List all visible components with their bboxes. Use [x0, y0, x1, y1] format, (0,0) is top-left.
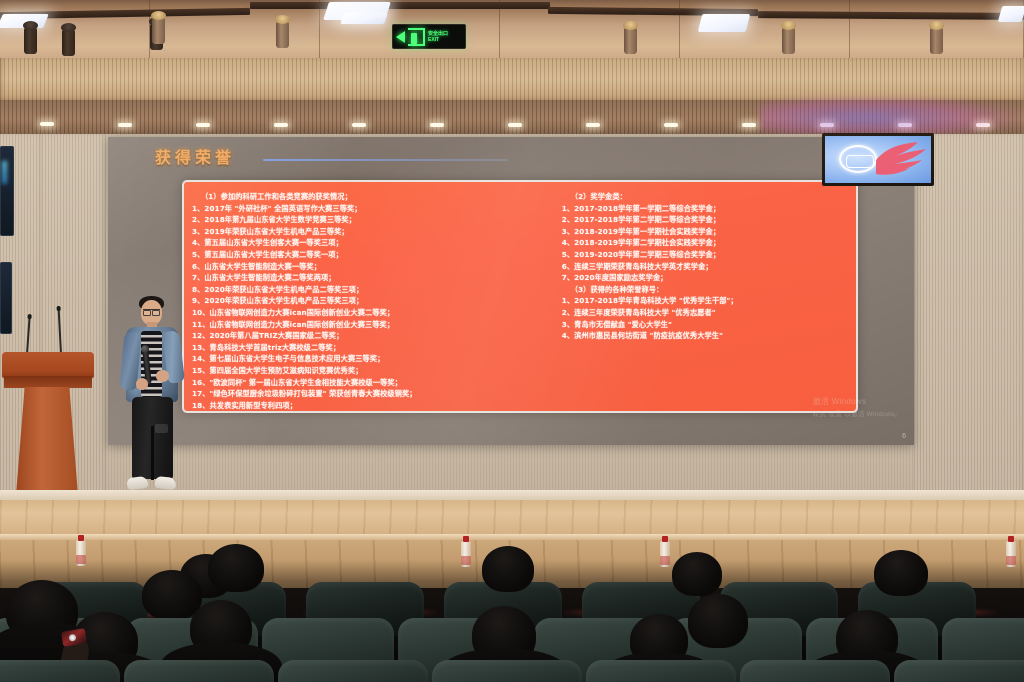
slide-honors-item: 1、2017-2018学年青岛科技大学 "优秀学生干部"； [562, 295, 852, 307]
school-emblem-sign [822, 133, 934, 186]
presenter [114, 294, 192, 510]
audience-head [142, 570, 202, 620]
slide-honors-heading: （3）获得的各种荣誉称号： [562, 284, 852, 296]
windows-activation-watermark: 激活 Windows 转到"设置"以激活 Windows。 [813, 396, 901, 418]
slide-honors-item: 4、滨州市惠民县何坊街道 "防疫抗疫优秀大学生" [562, 330, 852, 342]
slide-honors-item: 3、青岛市无偿献血 "爱心大学生" [562, 319, 852, 331]
slide-left-item: 6、山东省大学生智能制造大赛一等奖； [192, 261, 548, 273]
slide-scholarship-item: 6、连续三学期荣获青岛科技大学英才奖学金； [562, 261, 852, 273]
seat [586, 660, 736, 682]
wall-column [914, 134, 1024, 524]
slide-title: 获得荣誉 [155, 144, 235, 168]
watermark-line-2: 转到"设置"以激活 Windows。 [813, 408, 901, 418]
slide-left-item: 17、"绿色环保型厨余垃圾粉碎打包装置" 荣获创青春大赛校级铜奖； [192, 388, 548, 400]
seat [432, 660, 582, 682]
slide-scholarship-item: 5、2019-2020学年第二学期三等综合奖学金； [562, 249, 852, 261]
exit-door-icon [408, 28, 425, 46]
slide-content-panel: （1）参加的科研工作和各类竞赛的获奖情况； 1、2017年 "外研社杯" 全国英… [182, 180, 858, 413]
slide-scholarship-heading: （2）奖学金类： [562, 191, 852, 203]
slide-left-item: 18、共发表实用新型专利四项； [192, 400, 548, 412]
slide-left-item: 9、2020年荣获山东省大学生机电产品三等奖三项； [192, 295, 548, 307]
slide-left-item: 12、2020年第八届TRIZ大赛国家级二等奖； [192, 330, 548, 342]
audience-head [208, 544, 264, 592]
exit-arrow-icon [396, 31, 405, 43]
ceiling [0, 0, 1024, 62]
slide-scholarship-item: 3、2018-2019学年第一学期社会实践奖学金； [562, 226, 852, 238]
slide-left-item: 15、第四届全国大学生预防艾滋病知识竞赛优秀奖； [192, 365, 548, 377]
presenter-left-hand [136, 378, 148, 390]
slide-scholarship-item: 7、2020年度国家励志奖学金； [562, 272, 852, 284]
ceiling-spotlight [276, 22, 289, 48]
slide-left-item: 13、青岛科技大学首届triz大赛校级二等奖； [192, 342, 548, 354]
slide-title-rule [263, 159, 508, 161]
slide-honors-item: 2、连续三年度荣获青岛科技大学 "优秀志愿者" [562, 307, 852, 319]
exit-sign-label: 安全出口 EXIT [428, 31, 448, 43]
stage-floor [0, 500, 1024, 538]
slide-right-column: （2）奖学金类： 1、2017-2018学年第一学期二等综合奖学金； 2、201… [552, 182, 856, 411]
presenter-left-shoe [126, 476, 148, 490]
flame-icon [872, 140, 928, 180]
slide-left-item: 16、"欧波同杯" 第一届山东省大学生金相技能大赛校级一等奖； [192, 377, 548, 389]
auditorium-photo-scene: 安全出口 EXIT 获得荣誉 （1）参加的科研工作和各类 [0, 0, 1024, 682]
slide-left-item: 7、山东省大学生智能制造大赛二等奖两项； [192, 272, 548, 284]
slide-left-item: 10、山东省物联网创造力大赛ican国际创新创业大赛二等奖； [192, 307, 548, 319]
slide-left-item: 3、2019年荣获山东省大学生机电产品三等奖； [192, 226, 548, 238]
audience-head [874, 550, 928, 596]
slide-left-item: 5、第五届山东省大学生创客大赛二等奖一项； [192, 249, 548, 261]
projection-screen: 获得荣誉 （1）参加的科研工作和各类竞赛的获奖情况； 1、2017年 "外研社杯… [108, 137, 914, 445]
slide-left-item: 4、第五届山东省大学生创客大赛一等奖三项； [192, 237, 548, 249]
ceiling-spotlight [62, 30, 75, 56]
presenter-right-hand [156, 370, 169, 382]
slide-scholarship-item: 1、2017-2018学年第一学期二等综合奖学金； [562, 203, 852, 215]
slide-scholarship-item: 2、2017-2018学年第二学期二等综合奖学金； [562, 214, 852, 226]
seat [278, 660, 428, 682]
side-display-left [0, 146, 14, 236]
slide-left-column: （1）参加的科研工作和各类竞赛的获奖情况； 1、2017年 "外研社杯" 全国英… [184, 182, 552, 411]
slide-left-item: 8、2020年荣获山东省大学生机电产品二等奖三项； [192, 284, 548, 296]
slide-page-number: 6 [902, 433, 906, 440]
slide-left-item: 11、山东省物联网创造力大赛ican国际创新创业大赛三等奖； [192, 319, 548, 331]
ceiling-light-panel [698, 14, 750, 32]
ceiling-light-panel [998, 6, 1024, 22]
slide-left-item: 2、2018年第九届山东省大学生数学竞赛三等奖； [192, 214, 548, 226]
audience-area [0, 560, 1024, 682]
audience-head [672, 552, 722, 596]
seat [124, 660, 274, 682]
ceiling-spotlight [624, 28, 637, 54]
side-display-left-lower [0, 262, 12, 334]
watermark-line-1: 激活 Windows [813, 396, 901, 407]
ceiling-spotlight [782, 28, 795, 54]
ceiling-track-beam [250, 2, 550, 9]
audience-head [482, 546, 534, 592]
ceiling-spotlight [930, 28, 943, 54]
ceiling-light-panel [340, 13, 388, 24]
slide-left-heading: （1）参加的科研工作和各类竞赛的获奖情况； [192, 191, 548, 203]
seat [0, 660, 120, 682]
slide-left-item: 1、2017年 "外研社杯" 全国英语写作大赛三等奖； [192, 203, 548, 215]
slide-left-item: 14、第七届山东省大学生电子与信息技术应用大赛三等奖； [192, 353, 548, 365]
presenter-right-shoe [154, 476, 176, 490]
seat [740, 660, 890, 682]
seat [894, 660, 1024, 682]
audience-head [688, 594, 748, 648]
ceiling-spotlight [24, 28, 37, 54]
emergency-exit-sign: 安全出口 EXIT [392, 24, 466, 49]
ceiling-spotlight [152, 18, 165, 44]
presenter-glasses [143, 309, 160, 313]
slide-scholarship-item: 4、2018-2019学年第二学期社会实践奖学金； [562, 237, 852, 249]
